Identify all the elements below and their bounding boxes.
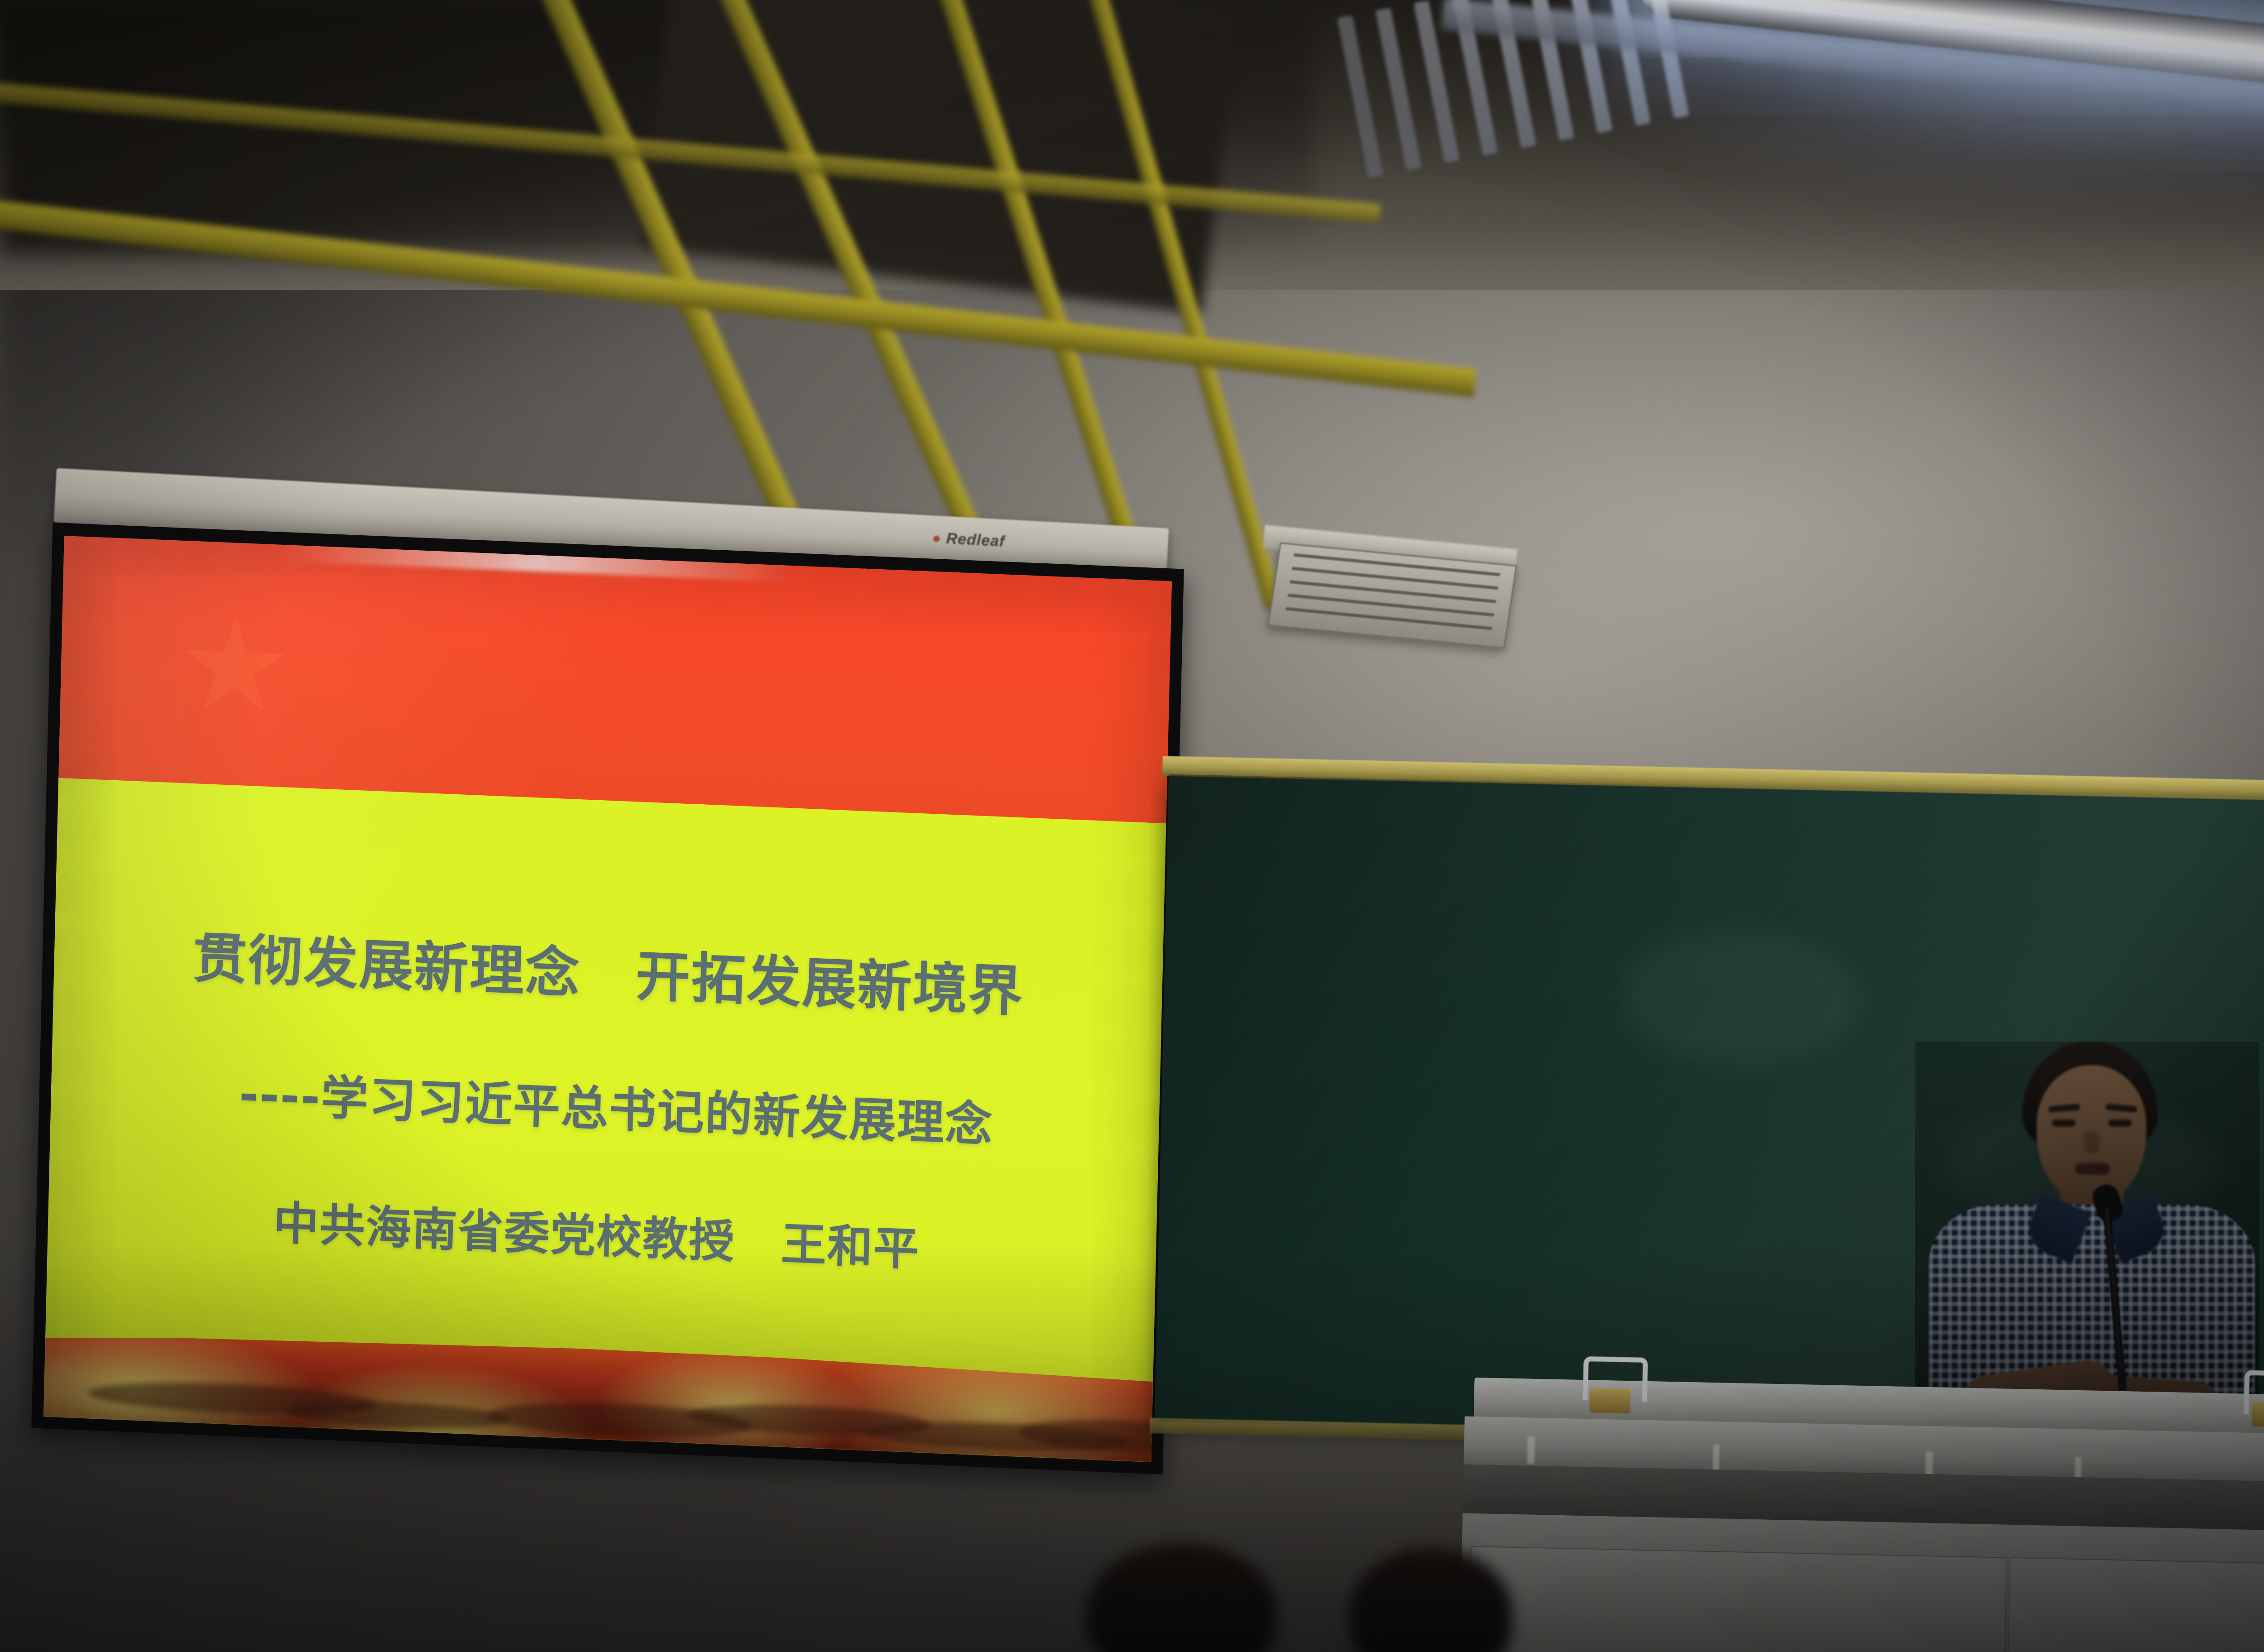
foreground-shadow xyxy=(0,1244,2264,1652)
louvre-slat xyxy=(1375,8,1421,171)
brand-dot-icon xyxy=(933,536,940,543)
speaker-mouth xyxy=(2075,1163,2110,1175)
five-point-star-icon xyxy=(182,614,288,722)
slide-subtitle: ----学习习近平总书记的新发展理念 xyxy=(72,1048,1160,1161)
speaker-nose xyxy=(2084,1130,2099,1154)
speaker-eye xyxy=(2052,1119,2076,1127)
slide-title: 贯彻发展新理念 开拓发展新境界 xyxy=(53,908,1163,1032)
speaker-eye xyxy=(2108,1119,2132,1127)
slide-red-banner xyxy=(58,536,1172,823)
screen-brand-label: Redleaf xyxy=(933,529,1006,551)
photo-scene: Redleaf 贯彻发展新理念 开拓发展新境界 ----学习习近平总书记的新发展… xyxy=(0,0,2264,1652)
